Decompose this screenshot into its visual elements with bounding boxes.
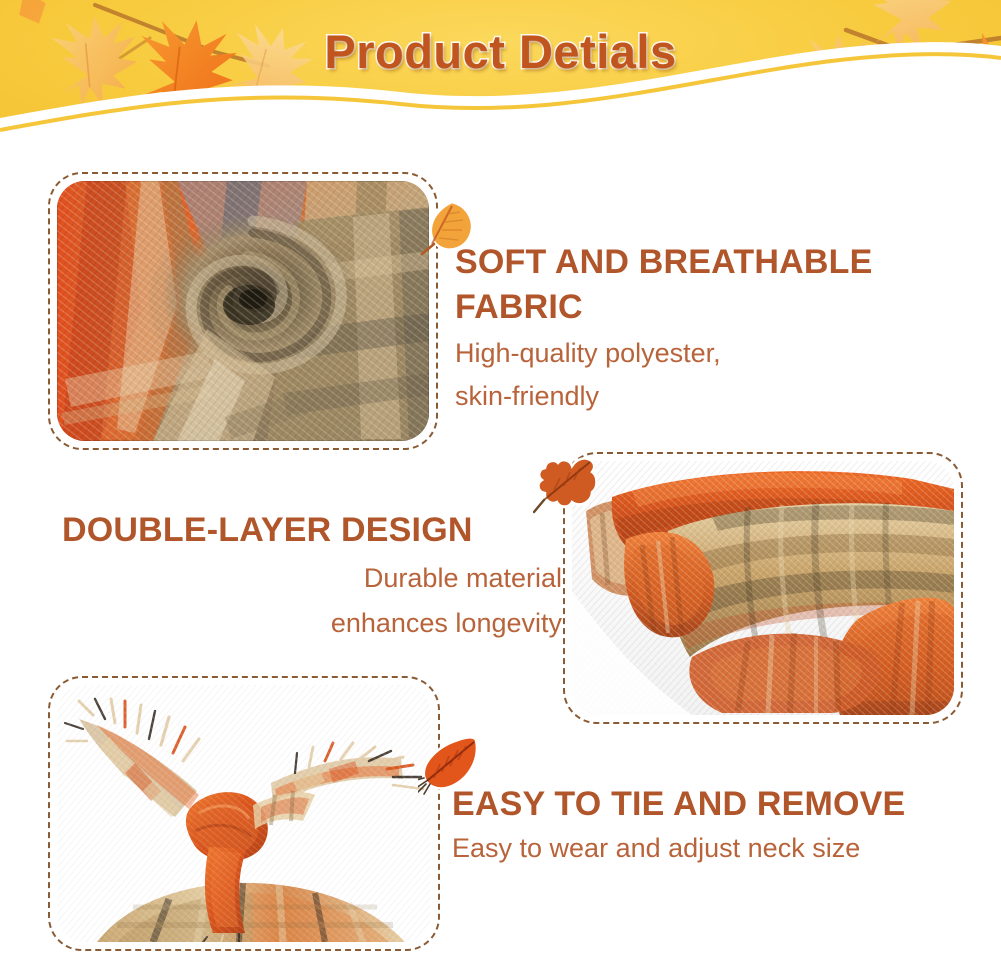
feature-heading-easy-tie: EASY TO TIE AND REMOVE xyxy=(452,782,992,827)
feature-body-double-layer-line2: enhances longevity xyxy=(62,604,562,642)
photo-panel-easy-tie xyxy=(48,676,440,951)
feature-text-easy-tie: EASY TO TIE AND REMOVE Easy to wear and … xyxy=(452,782,992,868)
photo-knotted-scarf xyxy=(57,685,431,942)
feature-heading-double-layer: DOUBLE-LAYER DESIGN xyxy=(62,508,562,553)
photo-panel-fabric xyxy=(48,172,438,450)
elm-leaf-icon xyxy=(418,734,484,798)
feature-body-double-layer-line1: Durable material xyxy=(62,559,562,597)
birch-leaf-icon xyxy=(418,196,480,258)
feature-body-fabric-line2: skin-friendly xyxy=(455,377,985,415)
feature-heading-fabric: SOFT AND BREATHABLE FABRIC xyxy=(455,240,985,330)
photo-fabric-swirl xyxy=(57,181,429,441)
product-details-infographic: Product Detials xyxy=(0,0,1001,954)
feature-body-easy-tie: Easy to wear and adjust neck size xyxy=(452,829,992,867)
header-banner: Product Detials xyxy=(0,0,1001,140)
photo-panel-double-layer xyxy=(563,452,963,724)
page-title: Product Detials xyxy=(0,24,1001,79)
oak-leaf-icon xyxy=(533,452,601,516)
feature-text-double-layer: DOUBLE-LAYER DESIGN Durable material enh… xyxy=(62,508,562,642)
feature-text-fabric: SOFT AND BREATHABLE FABRIC High-quality … xyxy=(455,240,985,415)
feature-body-fabric-line1: High-quality polyester, xyxy=(455,334,985,372)
photo-folded-fabric xyxy=(572,461,954,715)
